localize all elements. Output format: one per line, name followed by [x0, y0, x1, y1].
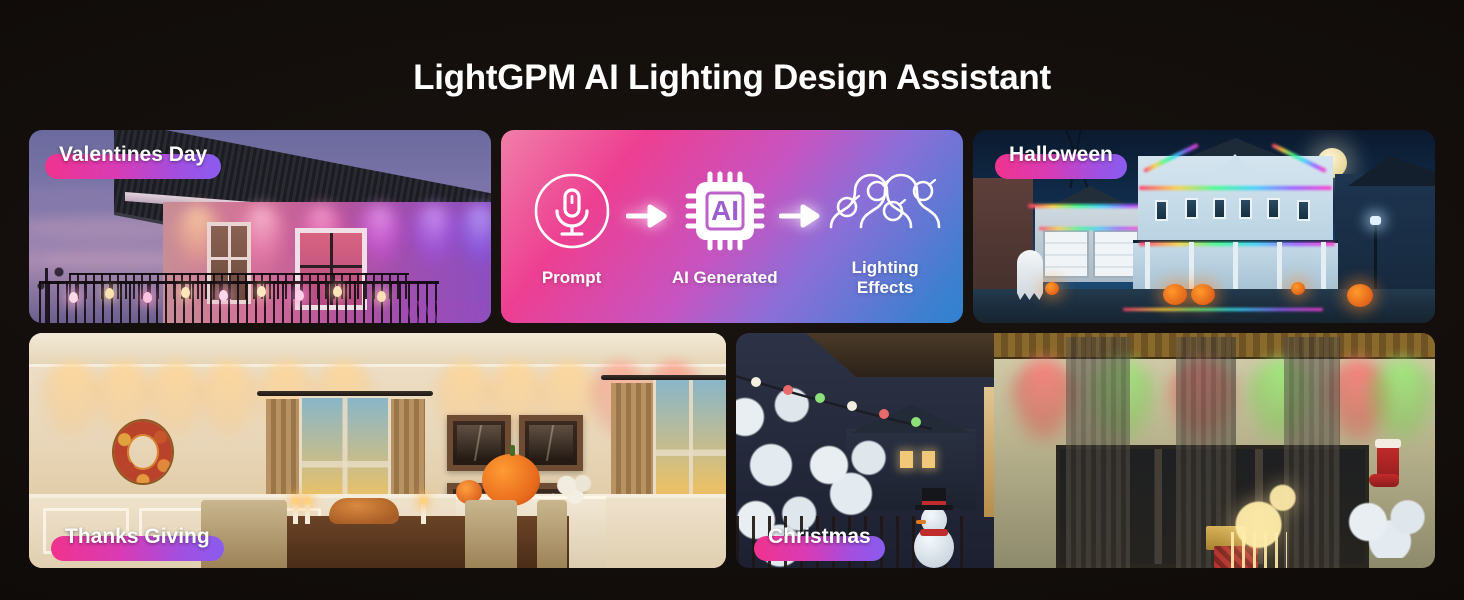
dining-table [269, 516, 569, 568]
badge-valentines-day: Valentines Day [45, 142, 221, 168]
microphone-icon [517, 166, 626, 256]
ai-chip-icon: AI [670, 166, 779, 256]
workflow-step-prompt[interactable]: Prompt [517, 166, 626, 288]
porch-column [1277, 242, 1282, 290]
snowman-scarf [920, 529, 948, 536]
jack-o-lantern [1163, 284, 1187, 305]
badge-label: Valentines Day [45, 142, 221, 168]
string-bulb [105, 288, 114, 299]
garage-accent-light [1039, 227, 1139, 230]
string-bulb [143, 292, 152, 303]
dining-chair [235, 500, 287, 568]
card-valentines-day[interactable]: Valentines Day [29, 130, 491, 323]
badge-halloween: Halloween [995, 142, 1127, 168]
porch-column [1321, 242, 1326, 290]
window-shape [1297, 200, 1310, 221]
badge-label: Halloween [995, 142, 1127, 168]
arrow-right-2-icon [779, 199, 823, 233]
card-thanks-giving[interactable]: Thanks Giving [29, 333, 726, 568]
snowman-hat [922, 488, 946, 510]
jack-o-lantern [1291, 282, 1305, 295]
window-shape [1239, 198, 1252, 219]
railing-shape [69, 273, 409, 299]
card-ai-workflow[interactable]: Prompt [501, 130, 963, 323]
string-lights [736, 367, 1032, 439]
workflow-step-label: Prompt [517, 268, 626, 288]
badge-thanks-giving: Thanks Giving [51, 524, 224, 550]
string-bulb [181, 287, 190, 298]
string-bulb [69, 292, 78, 303]
porch-column [1145, 242, 1150, 290]
autumn-wreath [114, 421, 172, 483]
workflow-step-lighting-effects[interactable]: Lighting Effects [823, 156, 947, 298]
street-lamp [1374, 222, 1377, 292]
ai-workflow-row: Prompt [501, 130, 963, 323]
workflow-step-label: AI Generated [670, 268, 779, 288]
string-bulb [333, 286, 342, 297]
snow-covered-shrub [1335, 498, 1435, 558]
snowman-decoration [912, 482, 956, 568]
roast-turkey [329, 498, 399, 524]
window-shape [1267, 198, 1280, 219]
candle [421, 504, 426, 524]
string-bulb [295, 290, 304, 301]
svg-text:AI: AI [711, 195, 739, 226]
porch-column [1189, 242, 1194, 290]
jack-o-lantern [1191, 284, 1215, 305]
arrow-right-1-icon [626, 199, 670, 233]
workflow-step-label: Lighting Effects [823, 258, 947, 298]
curtain-rod [601, 375, 726, 380]
ground-light-strip [1123, 308, 1323, 311]
card-christmas[interactable]: Christmas [736, 333, 1435, 568]
window-shape [1185, 198, 1198, 219]
christmas-stocking [1377, 445, 1399, 487]
large-pumpkin [482, 454, 540, 506]
string-bulb [377, 291, 386, 302]
light-up-reindeer [1219, 478, 1305, 568]
jack-o-lantern [1347, 284, 1373, 307]
roofline-light-strip [1028, 204, 1152, 208]
snowman-nose [916, 520, 926, 524]
neighbor-house-right [1335, 174, 1435, 298]
window-shape [1155, 200, 1168, 221]
lit-window [922, 451, 935, 468]
badge-christmas: Christmas [754, 524, 885, 550]
porch-column [1233, 242, 1238, 290]
workflow-step-ai-generated[interactable]: AI AI Generated [670, 166, 779, 288]
candle [293, 504, 298, 524]
jack-o-lantern [1045, 282, 1059, 295]
patio-furniture [405, 301, 485, 323]
ghost-decoration [1017, 250, 1043, 300]
page-title: LightGPM AI Lighting Design Assistant [0, 58, 1464, 98]
badge-label: Christmas [754, 524, 885, 550]
string-bulb [219, 290, 228, 301]
badge-label: Thanks Giving [51, 524, 224, 550]
window-shape [1213, 198, 1226, 219]
roofline-light-strip [1139, 186, 1332, 190]
candle [305, 504, 310, 524]
dining-chair [465, 500, 517, 568]
dining-chair [537, 500, 567, 568]
string-bulb [257, 286, 266, 297]
curtain-rod [257, 391, 433, 396]
curtain-panel [1066, 337, 1130, 568]
card-halloween[interactable]: Halloween [973, 130, 1435, 323]
promo-banner: LightGPM AI Lighting Design Assistant [0, 0, 1464, 600]
light-string-icon [823, 156, 947, 246]
garage-door [1043, 230, 1089, 278]
